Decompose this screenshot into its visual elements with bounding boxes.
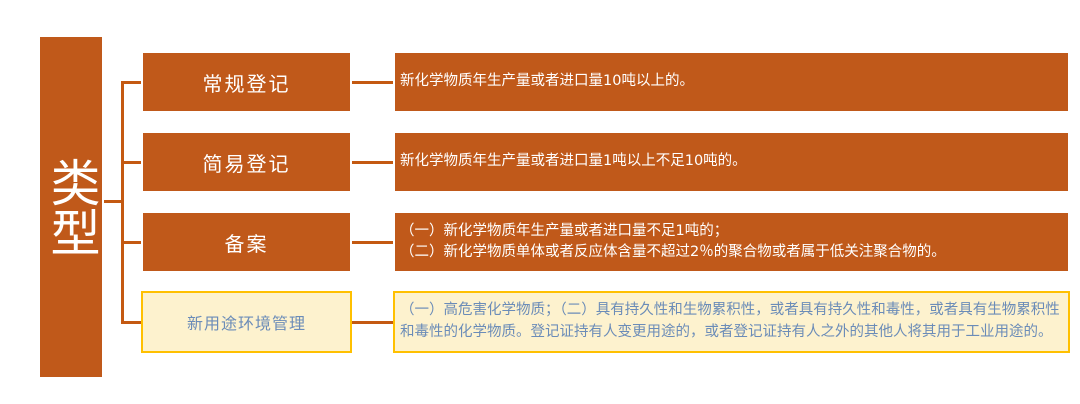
connector-trunk bbox=[121, 81, 124, 322]
root-node-label: 类型 bbox=[45, 157, 98, 257]
category-box-simplified-registration[interactable]: 简易登记 bbox=[141, 131, 352, 193]
connector-trunk-to-row-1 bbox=[121, 81, 143, 84]
connector-row-4-to-description bbox=[351, 321, 395, 324]
description-text: 新化学物质年生产量或者进口量1吨以上不足10吨的。 bbox=[400, 151, 1064, 172]
connector-trunk-to-row-2 bbox=[121, 161, 143, 164]
category-label: 新用途环境管理 bbox=[187, 310, 306, 334]
category-box-regular-registration[interactable]: 常规登记 bbox=[141, 51, 352, 113]
connector-row-3-to-description bbox=[351, 241, 395, 244]
connector-trunk-to-row-4 bbox=[121, 321, 143, 324]
category-label: 常规登记 bbox=[203, 68, 291, 97]
description-box-regular-registration[interactable]: 新化学物质年生产量或者进口量10吨以上的。 bbox=[393, 51, 1070, 113]
diagram-canvas: 类型 常规登记 新化学物质年生产量或者进口量10吨以上的。 简易登记 新化学物质… bbox=[0, 0, 1080, 404]
description-box-simplified-registration[interactable]: 新化学物质年生产量或者进口量1吨以上不足10吨的。 bbox=[393, 131, 1070, 193]
category-label: 简易登记 bbox=[203, 148, 291, 177]
category-label: 备案 bbox=[225, 228, 269, 257]
connector-row-1-to-description bbox=[351, 81, 395, 84]
description-text: （一）高危害化学物质；（二）具有持久性和生物累积性，或者具有持久性和毒性，或者具… bbox=[400, 300, 1064, 344]
description-text: 新化学物质年生产量或者进口量10吨以上的。 bbox=[400, 71, 1064, 92]
description-box-new-use-environmental-management[interactable]: （一）高危害化学物质；（二）具有持久性和生物累积性，或者具有持久性和毒性，或者具… bbox=[393, 291, 1070, 353]
root-node-type[interactable]: 类型 bbox=[38, 35, 104, 379]
connector-trunk-to-row-3 bbox=[121, 241, 143, 244]
description-box-record-filing[interactable]: （一）新化学物质年生产量或者进口量不足1吨的； （二）新化学物质单体或者反应体含… bbox=[393, 211, 1070, 273]
description-text: （一）新化学物质年生产量或者进口量不足1吨的； （二）新化学物质单体或者反应体含… bbox=[400, 221, 1064, 263]
category-box-new-use-environmental-management[interactable]: 新用途环境管理 bbox=[141, 291, 352, 353]
connector-row-2-to-description bbox=[351, 161, 395, 164]
category-box-record-filing[interactable]: 备案 bbox=[141, 211, 352, 273]
